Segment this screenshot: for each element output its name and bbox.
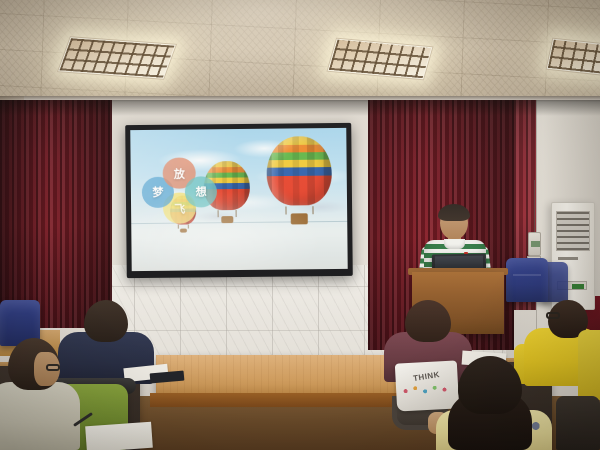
- balloon-envelope: [266, 136, 332, 205]
- air-conditioner-brand-mark: [558, 257, 578, 260]
- attendee-maroon-head: [405, 300, 451, 342]
- balloon-basket: [221, 216, 233, 224]
- projected-slide: 飞 梦 放 想: [130, 128, 347, 271]
- attendee-right-edge: [578, 330, 600, 400]
- balloon-basket: [291, 214, 308, 225]
- ceiling-light-left-icon: [57, 36, 177, 80]
- lecture-hall-scene: 飞 梦 放 想: [0, 0, 600, 450]
- tote-bag-pattern: [400, 383, 455, 398]
- attendee-light-eyeglasses-icon: [46, 364, 60, 371]
- attendee-yellow-eyeglasses-icon: [546, 312, 560, 319]
- notepad[interactable]: [85, 422, 153, 450]
- balloon-large-icon: [266, 136, 332, 224]
- louver-grid: [548, 40, 600, 76]
- balloon-basket: [180, 228, 187, 232]
- wall-cable: [534, 180, 535, 234]
- presenter-collar: [444, 239, 465, 249]
- wall-phone-icon[interactable]: [528, 232, 541, 256]
- slide-circle-xiang: 想: [185, 176, 218, 207]
- blue-chair-near[interactable]: [506, 258, 548, 302]
- louver-grid: [60, 38, 175, 77]
- air-conditioner-vents: [556, 211, 590, 251]
- attendee-light-torso: [0, 382, 80, 450]
- slide-sea: [131, 222, 347, 271]
- curtain-left-shadow: [0, 100, 112, 328]
- attendee-navy-head: [84, 300, 128, 342]
- white-tote-bag[interactable]: THINK: [395, 360, 459, 411]
- chair-dark-right[interactable]: [556, 396, 600, 450]
- presenter-hair: [438, 204, 470, 221]
- louver-grid: [329, 40, 431, 78]
- projection-screen: 飞 梦 放 想: [125, 123, 353, 278]
